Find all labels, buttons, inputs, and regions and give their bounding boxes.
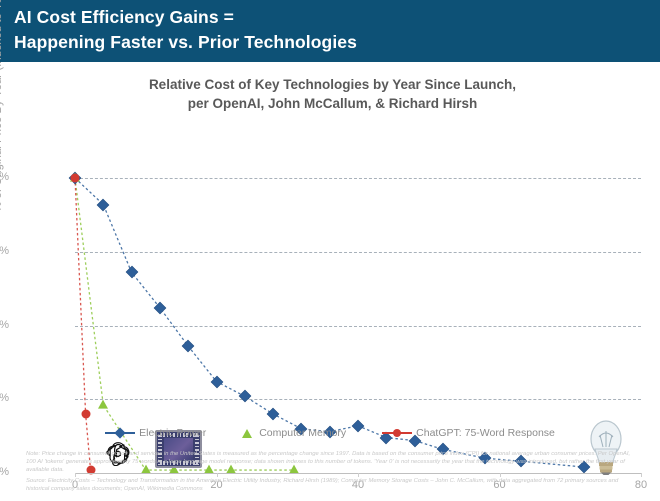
banner-title-line-1: AI Cost Efficiency Gains = — [14, 5, 646, 30]
y-tick-label-100%: 100% — [0, 171, 9, 183]
chip-pin — [158, 446, 162, 448]
gridline-y-50 — [75, 326, 641, 327]
legend-label-0: Electric Power — [139, 427, 206, 439]
legend-line-red — [382, 432, 412, 434]
data-point-chatgpt-75-word-response-1[interactable] — [81, 410, 90, 419]
legend-label-2: ChatGPT: 75-Word Response — [416, 427, 555, 439]
legend-item-electric-power[interactable]: Electric Power — [105, 427, 206, 439]
chart-title-line-2: per OpenAI, John McCallum, & Richard Hir… — [60, 94, 605, 113]
note-text: Note: Price change in consumer goods and… — [26, 450, 641, 474]
gridline-y-75 — [75, 252, 641, 253]
legend-label-1: Computer Memory — [259, 427, 346, 439]
series-line-0 — [75, 178, 584, 467]
source-text: Source: Electricity Costs – Technology a… — [26, 477, 641, 493]
chip-pin — [195, 446, 199, 448]
chart-container: Relative Cost of Key Technologies by Yea… — [0, 62, 660, 501]
chip-pin — [158, 442, 162, 444]
data-point-computer-memory-1[interactable] — [98, 400, 108, 409]
data-point-chatgpt-75-word-response-0[interactable] — [71, 174, 80, 183]
y-tick-label-0%: 0% — [0, 466, 9, 478]
y-tick-label-75%: 75% — [0, 245, 9, 257]
footnotes: Note: Price change in consumer goods and… — [26, 450, 641, 493]
triangle-marker-icon — [242, 429, 252, 438]
gridline-y-100 — [75, 178, 641, 179]
legend-item-computer-memory[interactable]: Computer Memory — [242, 427, 346, 439]
chart-legend: Electric Power Computer Memory ChatGPT: … — [0, 427, 660, 439]
legend-item-chatgpt[interactable]: ChatGPT: 75-Word Response — [382, 427, 555, 439]
circle-marker-icon — [393, 429, 401, 437]
y-tick-label-25%: 25% — [0, 392, 9, 404]
x-tick-mark-80 — [641, 473, 642, 477]
legend-line-blue — [105, 432, 135, 434]
gridline-y-25 — [75, 399, 641, 400]
y-tick-label-50%: 50% — [0, 319, 9, 331]
banner-title-line-2: Happening Faster vs. Prior Technologies — [14, 30, 646, 55]
chart-title: Relative Cost of Key Technologies by Yea… — [60, 75, 605, 113]
diamond-marker-icon — [114, 427, 125, 438]
chart-title-line-1: Relative Cost of Key Technologies by Yea… — [60, 75, 605, 94]
chip-pin — [195, 442, 199, 444]
title-banner: AI Cost Efficiency Gains = Happening Fas… — [0, 0, 660, 62]
